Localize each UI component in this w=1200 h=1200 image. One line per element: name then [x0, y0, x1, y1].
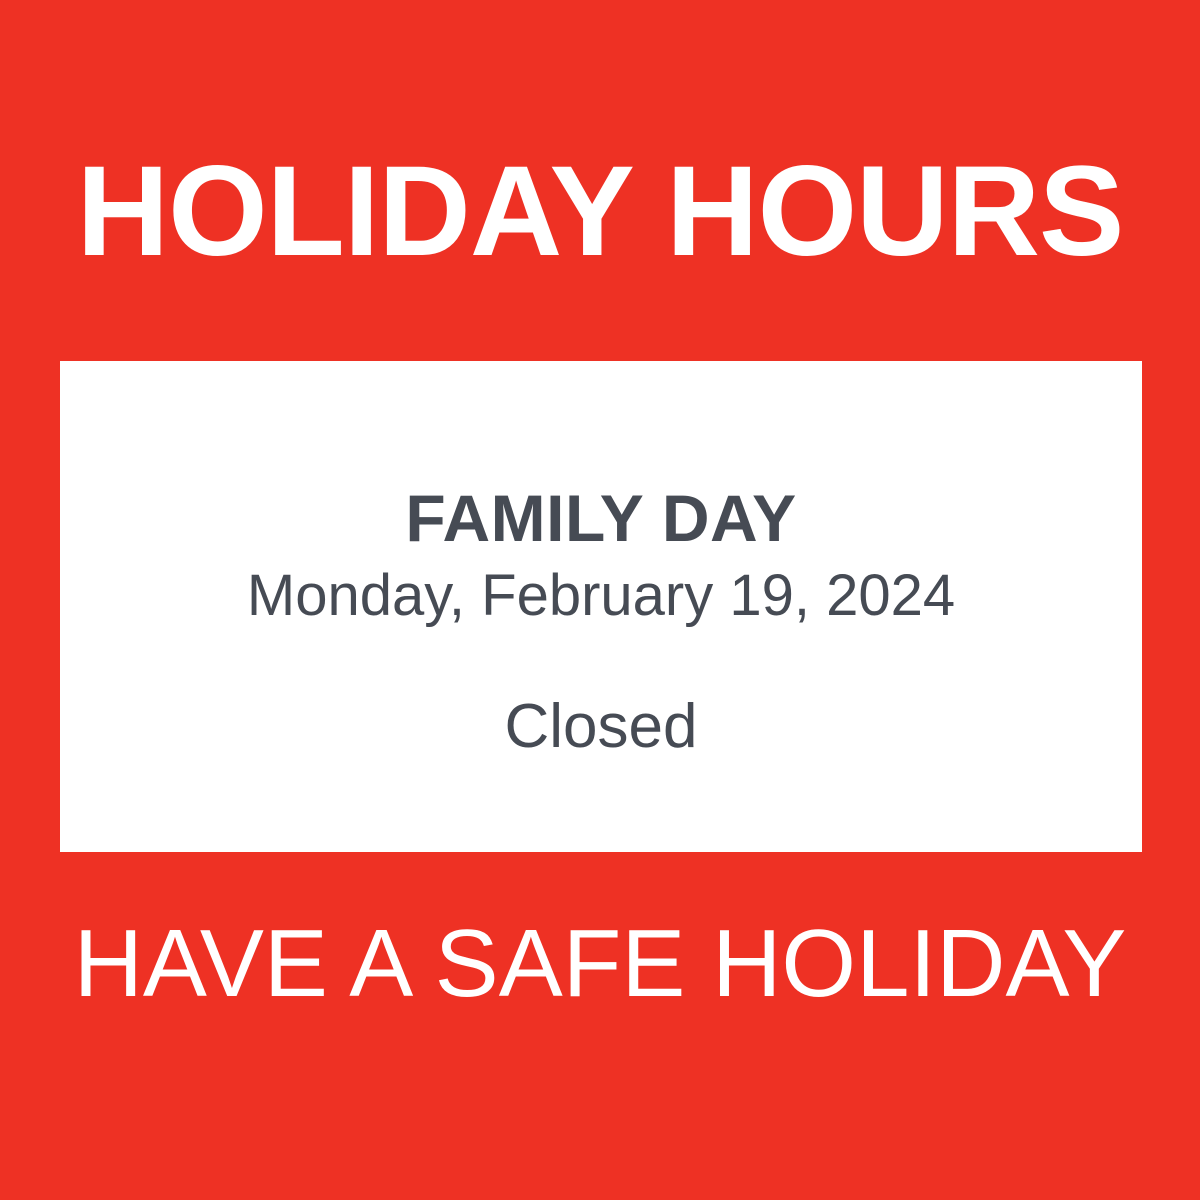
status-badge: Closed	[505, 693, 698, 761]
holiday-info-card: FAMILY DAY Monday, February 19, 2024 Clo…	[60, 361, 1142, 852]
page-title: HOLIDAY HOURS	[0, 148, 1200, 276]
holiday-date: Monday, February 19, 2024	[247, 564, 955, 629]
footer-message: HAVE A SAFE HOLIDAY	[0, 916, 1200, 1012]
holiday-hours-poster: HOLIDAY HOURS FAMILY DAY Monday, Februar…	[0, 0, 1200, 1200]
holiday-name: FAMILY DAY	[405, 483, 796, 554]
